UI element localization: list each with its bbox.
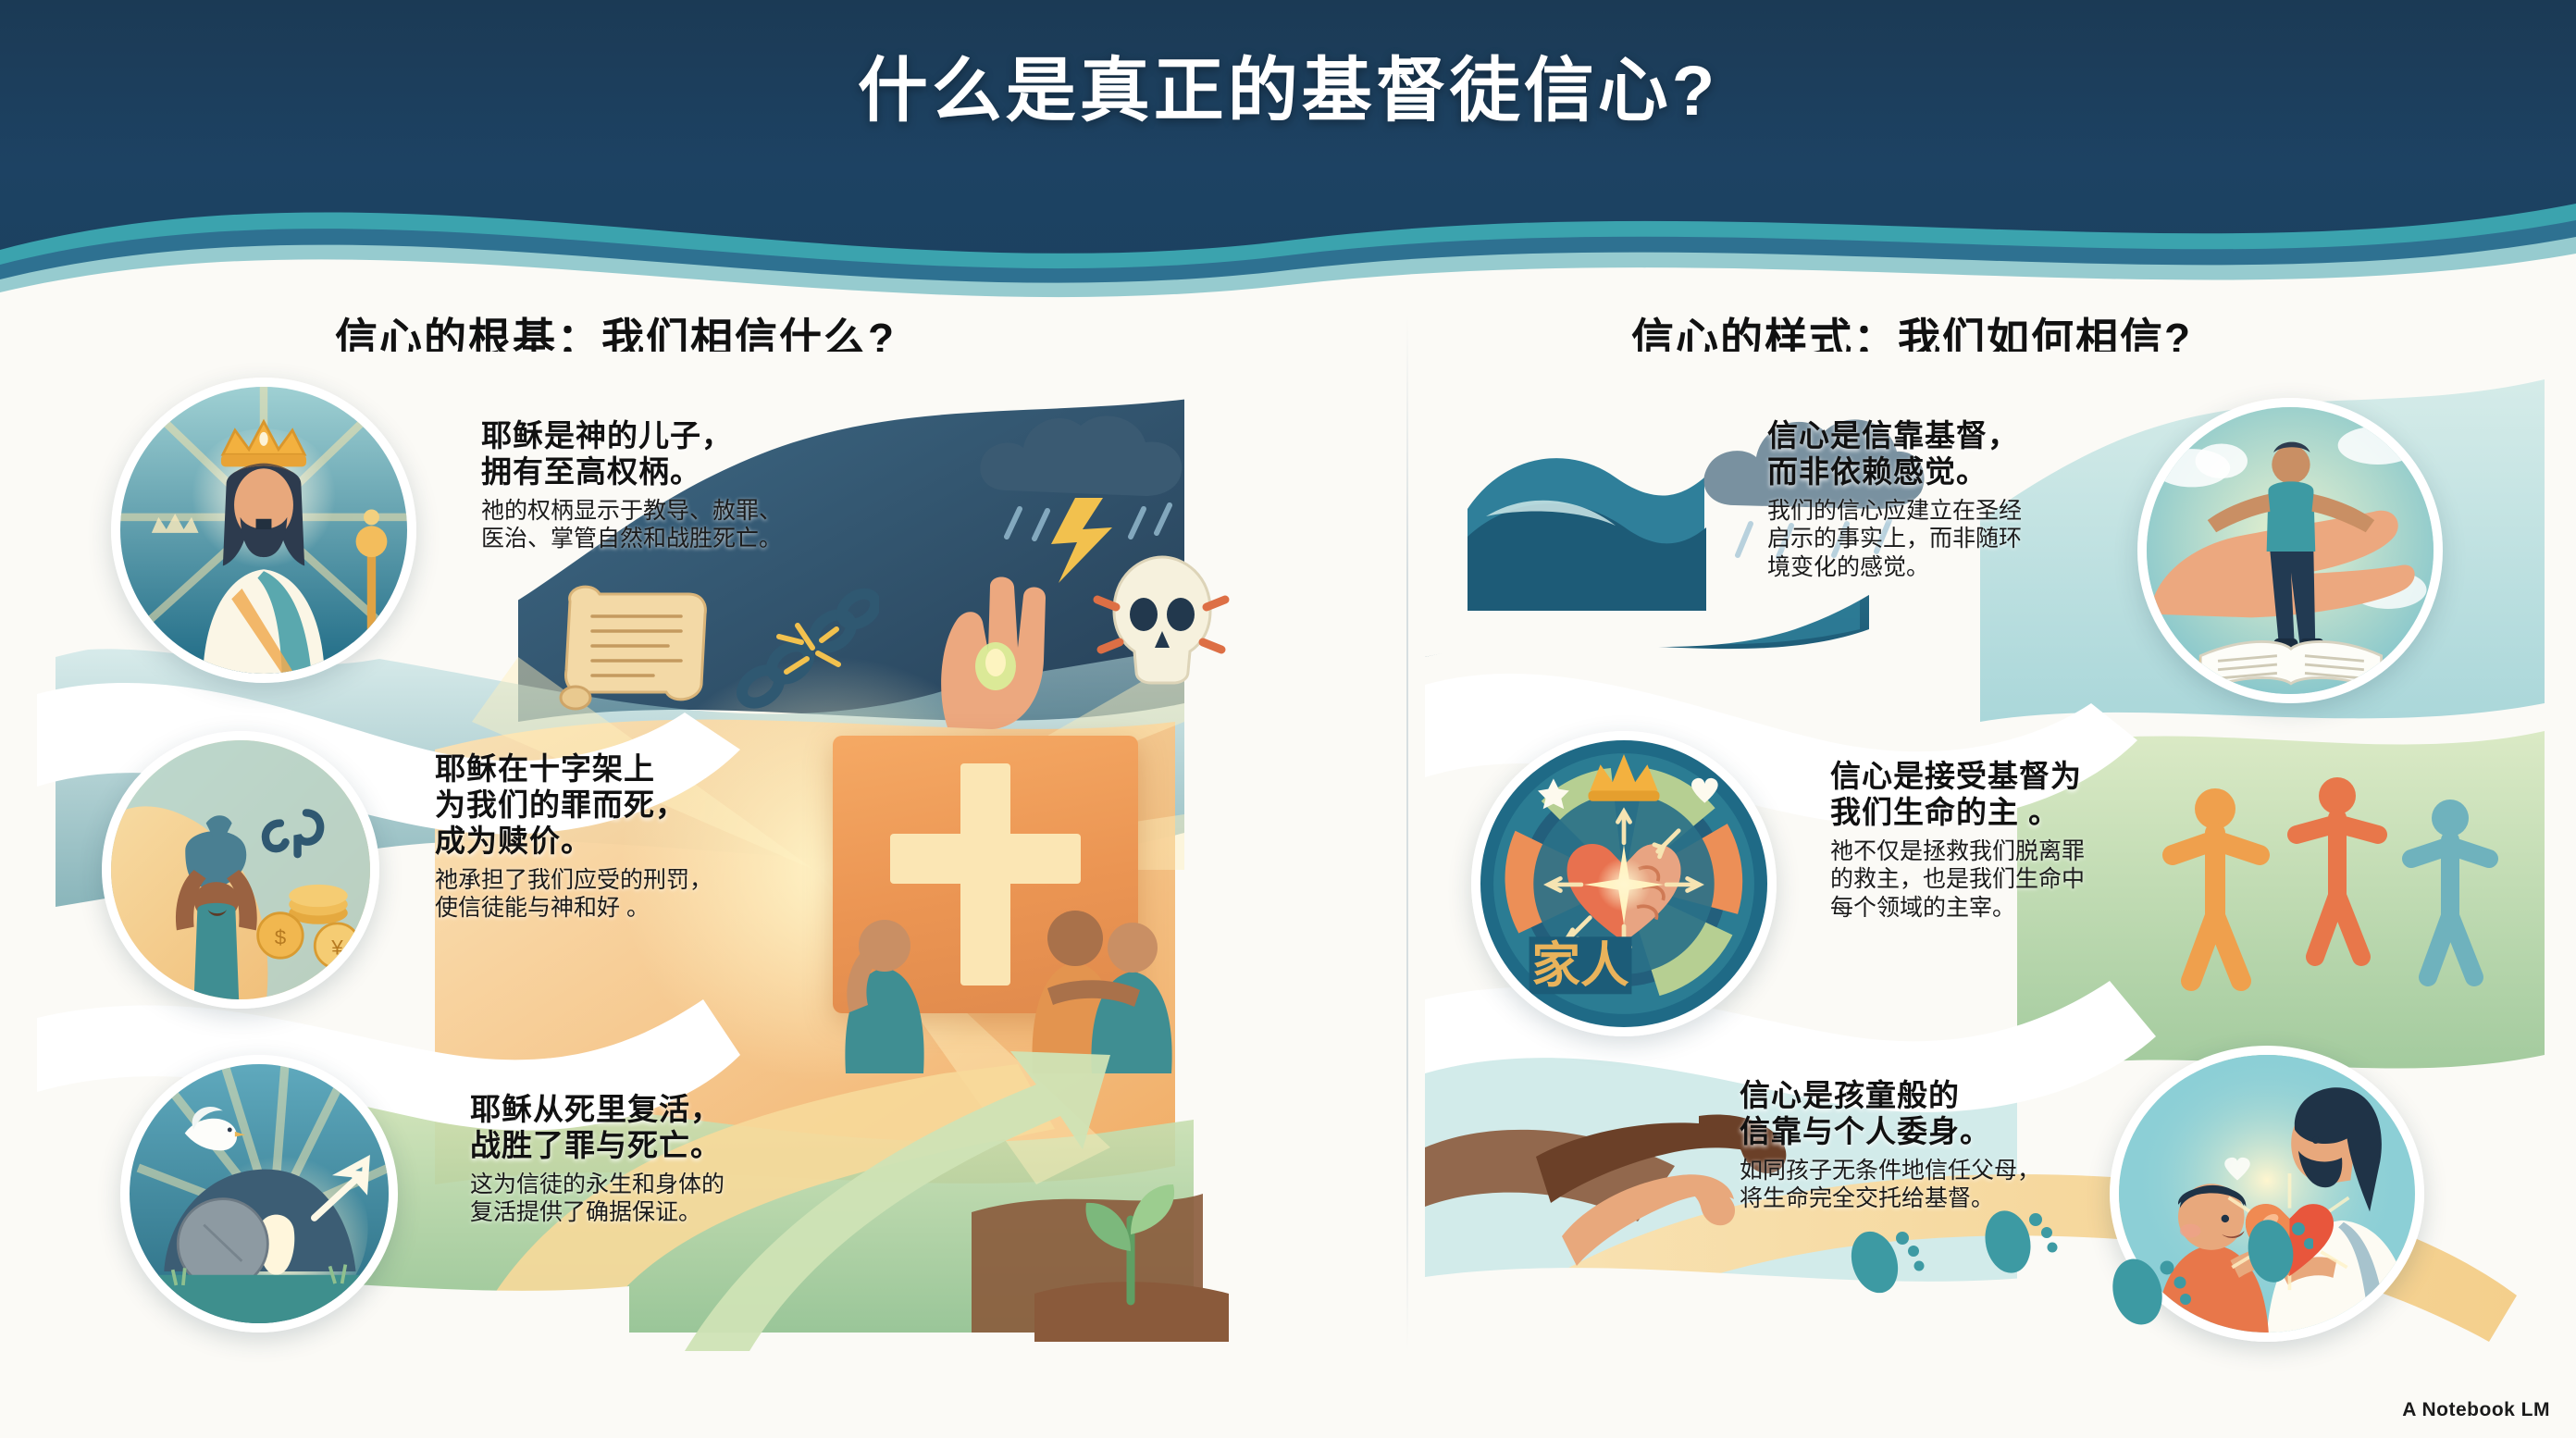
- illustration-lordship-wheel: 家人: [1471, 731, 1777, 1036]
- illustration-enthroned-christ: [111, 378, 416, 683]
- broken-chain-icon: [722, 583, 879, 740]
- storm-wave-icon: [1468, 398, 1708, 611]
- text-block-resurrection: 耶稣从死里复活， 战胜了罪与死亡。 这为信徒的永生和身体的 复活提供了确据保证。: [470, 1092, 877, 1227]
- item-body: 如同孩子无条件地信任父母， 将生命完全交托给基督。: [1740, 1157, 2137, 1213]
- illustration-upheld-believer: [2137, 398, 2443, 703]
- text-block-jesus-son-of-god: 耶稣是神的儿子， 拥有至高权柄。 祂的权柄显示于教导、赦罪、 医治、掌管自然和战…: [481, 418, 870, 553]
- scroll-icon: [551, 564, 718, 731]
- text-block-childlike-trust: 信心是孩童般的 信靠与个人委身。 如同孩子无条件地信任父母， 将生命完全交托给基…: [1740, 1078, 2137, 1213]
- wheel-label: 家人: [1531, 938, 1629, 993]
- item-title: 耶稣从死里复活， 战胜了罪与死亡。: [470, 1092, 877, 1164]
- item-title: 信心是信靠基督， 而非依赖感觉。: [1767, 418, 2119, 490]
- item-title: 信心是孩童般的 信靠与个人委身。: [1740, 1078, 2137, 1150]
- page-title: 什么是真正的基督徒信心?: [0, 33, 2576, 135]
- item-body: 这为信徒的永生和身体的 复活提供了确据保证。: [470, 1171, 877, 1227]
- illustration-burden-and-ransom: $ ¥: [102, 731, 379, 1009]
- footer-credit: A Notebook LM: [2402, 1399, 2550, 1421]
- item-title: 耶稣是神的儿子， 拥有至高权柄。: [481, 418, 870, 490]
- infographic-poster: 什么是真正的基督徒信心? 信心的根基：我们相信什么? 信心的样式：我们如何相信?: [0, 0, 2576, 1438]
- item-body: 祂不仅是拯救我们脱离罪 的救主，也是我们生命中 每个领域的主宰。: [1830, 837, 2200, 923]
- storm-cloud-icon: [962, 389, 1221, 592]
- celebrating-people-icon: [2156, 768, 2508, 1009]
- illustration-empty-tomb: [120, 1055, 398, 1333]
- column-divider: [1406, 315, 1408, 1351]
- item-body: 祂承担了我们应受的刑罚， 使信徒能与神和好 。: [435, 866, 824, 923]
- wave-divider: [0, 139, 2576, 315]
- footprints-icon: [1832, 1203, 2313, 1370]
- svg-text:¥: ¥: [330, 936, 343, 959]
- item-title: 信心是接受基督为 我们生命的主 。: [1830, 759, 2200, 831]
- text-block-christ-as-lord: 信心是接受基督为 我们生命的主 。 祂不仅是拯救我们脱离罪 的救主，也是我们生命…: [1830, 759, 2200, 922]
- item-title: 耶稣在十字架上 为我们的罪而死， 成为赎价。: [435, 751, 824, 860]
- text-block-trust-not-feelings: 信心是信靠基督， 而非依赖感觉。 我们的信心应建立在圣经 启示的事实上，而非随环…: [1767, 418, 2119, 581]
- item-body: 我们的信心应建立在圣经 启示的事实上，而非随环 境变化的感觉。: [1767, 497, 2119, 582]
- svg-text:$: $: [275, 925, 287, 948]
- text-block-died-for-our-sins: 耶稣在十字架上 为我们的罪而死， 成为赎价。 祂承担了我们应受的刑罚， 使信徒能…: [435, 751, 824, 923]
- item-body: 祂的权柄显示于教导、赦罪、 医治、掌管自然和战胜死亡。: [481, 497, 870, 553]
